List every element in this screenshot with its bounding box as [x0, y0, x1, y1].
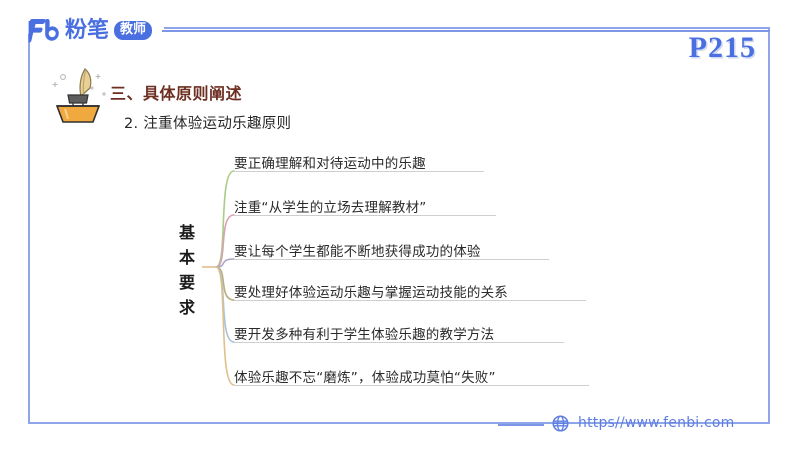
mindmap-branch [216, 267, 234, 342]
globe-icon [552, 415, 569, 432]
mindmap-leaf-underline [234, 385, 589, 386]
root-label-char-1: 本 [174, 245, 200, 270]
mindmap-leaf-underline [234, 215, 496, 216]
header-divider [162, 30, 770, 32]
mindmap-leaf: 注重“从学生的立场去理解教材” [234, 196, 427, 216]
mindmap-connectors [150, 140, 630, 395]
mindmap-leaf-underline [234, 259, 549, 260]
fenbi-logo[interactable]: 粉笔 教师 [28, 16, 152, 44]
brand-badge: 教师 [114, 21, 152, 40]
quill-inkwell-icon [48, 66, 110, 124]
mindmap-leaf: 要处理好体验运动乐趣与掌握运动技能的关系 [234, 281, 508, 301]
root-label-char-2: 要 [174, 270, 200, 295]
footer-divider [498, 424, 544, 426]
mindmap-leaf-underline [234, 300, 586, 301]
mindmap: 基本要求 要正确理解和对待运动中的乐趣注重“从学生的立场去理解教材”要让每个学生… [150, 140, 630, 395]
page-number: P215 [689, 31, 756, 65]
mindmap-leaf: 体验乐趣不忘“磨炼”，体验成功莫怕“失败” [234, 366, 496, 386]
mindmap-leaf: 要正确理解和对待运动中的乐趣 [234, 152, 426, 172]
page-title: 三、具体原则阐述 [110, 80, 242, 104]
mindmap-leaf-underline [234, 171, 484, 172]
mindmap-leaf: 要让每个学生都能不断地获得成功的体验 [234, 240, 481, 260]
fb-logo-icon [28, 18, 62, 43]
footer-url[interactable]: https//www.fenbi.com [578, 415, 735, 431]
mindmap-root-label: 基本要求 [174, 220, 200, 320]
page-subtitle: 2. 注重体验运动乐趣原则 [124, 112, 291, 133]
root-label-char-0: 基 [174, 220, 200, 245]
mindmap-leaf-underline [234, 342, 564, 343]
brand-name: 粉笔 [65, 18, 109, 43]
root-label-char-3: 求 [174, 295, 200, 320]
slide-canvas: 粉笔 教师 P215 三、具体原则阐述 2. 注 [0, 0, 800, 450]
mindmap-leaf: 要开发多种有利于学生体验乐趣的教学方法 [234, 323, 494, 343]
mindmap-branch [216, 171, 234, 267]
mindmap-branch [216, 267, 234, 300]
